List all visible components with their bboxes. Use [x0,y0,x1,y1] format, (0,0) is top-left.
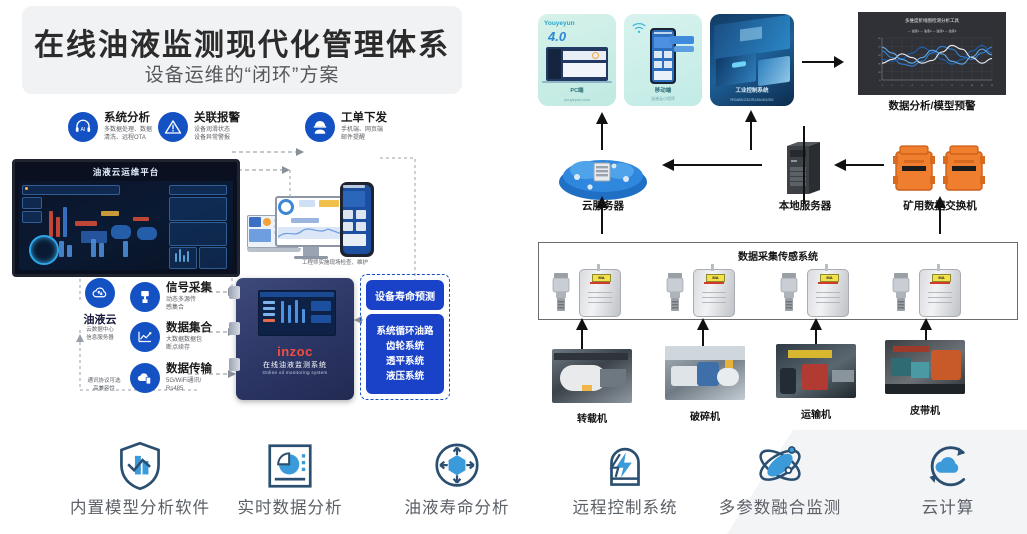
chart-plot: 90725436180123456789101112 [872,36,994,88]
equipment-label: 破碎机 [665,408,745,423]
oil-cloud-platform-screen[interactable]: 油液云运维平台 [12,159,240,277]
bottom-feature-realtime-analysis[interactable]: 实时数据分析 [215,438,365,518]
chart-legend: — 油液1 — 油液2 — 油液3 — 油液4 [858,29,1006,33]
device-name-cn: 在线油液监测系统 [236,360,354,370]
svg-text:7: 7 [941,85,943,87]
bottom-feature-label: 云计算 [873,494,1023,518]
equipment-photo-zaizaiji[interactable] [552,349,632,403]
svg-text:3: 3 [901,85,903,87]
feature-subtitle: 动态多源传 感集合 [166,297,212,312]
svg-text:18: 18 [878,72,881,74]
bottom-feature-cloud-computing[interactable]: 云计算 [873,438,1023,518]
svg-text:11: 11 [981,85,984,87]
bottom-feature-strip: 内置模型分析软件 实时数据分析 油液寿命分析 远程控制系统 多参数融合监测 [0,430,1027,534]
client-card-pc[interactable]: Youyeyun 4.0 PC端 youyeyun.com [538,14,616,106]
device-hinge [229,286,240,299]
svg-text:0: 0 [879,80,881,82]
wifi-icon [632,22,646,34]
sensor-transmitter: MA [919,269,961,317]
feature-data-aggregation[interactable]: 数据集合 大数据数据包 断点续存 [130,322,212,352]
chart-title: 多维度折线图检测分析工具 [858,18,1006,24]
equipment-photo-pidaiji[interactable] [885,340,965,394]
monitor-stand [303,247,319,256]
client-card-caption: 移动端 [624,86,702,94]
bottom-feature-remote-control[interactable]: 远程控制系统 [550,438,700,518]
client-card-sub: 油液云小程序 [624,96,702,102]
life-prediction-box[interactable]: 设备寿命预测 系统循环油路 齿轮系统 透平系统 液压系统 [360,274,450,400]
feature-title: 信号采集 [166,282,212,295]
product-version: 4.0 [548,29,566,44]
svg-text:54: 54 [878,55,881,57]
svg-text:12: 12 [991,85,994,87]
sensor-transmitter: MA [807,269,849,317]
svg-text:4: 4 [911,85,913,87]
device-brand: inzoc [236,344,354,359]
bottom-feature-label: 内置模型分析软件 [65,494,215,518]
feature-data-transmission[interactable]: 数据传输 5G/WiFi通讯/ Rs485 [130,363,212,393]
system-list-item: 透平系统 [386,354,424,369]
equipment-photo-posuiji[interactable] [665,346,745,400]
life-prediction-header: 设备寿命预测 [366,280,444,310]
page-title: 在线油液监测现代化管理体系 [22,20,462,64]
svg-text:10: 10 [971,85,974,87]
phone-mockup [340,182,374,257]
infographic-root: 在线油液监测现代化管理体系 设备运维的“闭环”方案 AI 系统分析 多数据处理、… [0,0,1027,534]
analysis-chart-panel[interactable]: 多维度折线图检测分析工具 — 油液1 — 油液2 — 油液3 — 油液4 907… [858,12,1006,95]
equipment-label: 皮带机 [885,402,965,417]
equipment-label: 转载机 [552,410,632,425]
feature-subtitle: 大数据数据包 断点续存 [166,337,212,352]
svg-text:5: 5 [921,85,923,87]
trend-chart-icon [130,322,160,352]
oil-cloud-node[interactable]: 油液云 云数据中心 信息服务器 [62,278,138,342]
arrow-to-chart [800,52,850,72]
shield-analytics-icon [65,438,215,494]
system-list-item: 齿轮系统 [386,339,424,354]
ma-tag: MA [932,274,951,282]
atom-orbit-icon [705,438,855,494]
svg-text:8: 8 [951,85,953,87]
client-card-mobile[interactable]: 移动端 油液云小程序 [624,14,702,106]
svg-text:2: 2 [891,85,893,87]
sensor-system-title: 数据采集传感系统 [539,248,1017,263]
client-card-sub: RS485/232/RJ45/4G/5G [710,97,794,102]
sensor-unit: MA [887,263,973,317]
data-upload-icon [130,363,160,393]
device-name-en: Online oil monitoring system [236,370,354,375]
page-subtitle: 设备运维的“闭环”方案 [22,60,462,87]
sensor-transmitter: MA [693,269,735,317]
client-card-caption: 工业控制系统 [710,86,794,94]
bottom-feature-multiparam[interactable]: 多参数融合监测 [705,438,855,518]
client-card-sub: youyeyun.com [538,97,616,102]
bottom-feature-oil-life[interactable]: 油液寿命分析 [382,438,532,518]
ma-tag: MA [820,274,839,282]
product-badge: Youyeyun [544,20,575,27]
cloud-node-title: 油液云 [62,311,138,327]
equipment-photo-yunshuji[interactable] [776,344,856,398]
sensor-unit: MA [661,263,747,317]
cloud-sync-icon [85,278,115,308]
bottom-feature-builtin-model[interactable]: 内置模型分析软件 [65,438,215,518]
svg-text:1: 1 [881,85,883,87]
feature-title: 数据传输 [166,363,212,376]
bottom-feature-label: 远程控制系统 [550,494,700,518]
cloud-node-subtitle: 云数据中心 信息服务器 [62,327,138,342]
engineer-note: 工程师实施现场检查、维护 [302,258,368,266]
svg-text:9: 9 [961,85,963,87]
svg-text:36: 36 [878,63,881,65]
phone-screen [343,185,371,254]
sensor-transmitter: MA [579,269,621,317]
equipment-label: 运输机 [776,406,856,421]
inzoc-monitoring-device[interactable]: inzoc 在线油液监测系统 Online oil monitoring sys… [236,278,354,400]
device-hinge [229,322,240,335]
system-list-item: 系统循环油路 [376,324,433,339]
pie-chart-icon [215,438,365,494]
platform-screen-body [19,181,233,270]
svg-text:90: 90 [878,38,881,40]
cube-expand-icon [382,438,532,494]
cloud-compute-icon [873,438,1023,494]
feature-signal-acquisition[interactable]: 信号采集 动态多源传 感集合 [130,282,212,312]
sensor-unit: MA [547,263,633,317]
svg-text:6: 6 [931,85,933,87]
client-card-caption: PC端 [538,86,616,94]
desktop-monitor-mockup [275,196,347,258]
bottom-feature-label: 油液寿命分析 [382,494,532,518]
data-acquisition-sensor-system[interactable]: 数据采集传感系统 MA MA MA [538,242,1018,320]
sensor-unit: MA [775,263,861,317]
device-screen [258,290,336,336]
bottom-feature-label: 多参数融合监测 [705,494,855,518]
laptop-icon [546,47,608,81]
client-card-industrial[interactable]: 工业控制系统 RS485/232/RJ45/4G/5G [710,14,794,106]
ma-tag: MA [706,274,725,282]
bottom-feature-label: 实时数据分析 [215,494,365,518]
remote-power-icon [550,438,700,494]
feature-title: 数据集合 [166,322,212,335]
sensor-probe-icon [130,282,160,312]
feature-subtitle: 5G/WiFi通讯/ Rs485 [166,378,212,393]
svg-text:72: 72 [878,47,881,49]
platform-screen-title: 油液云运维平台 [15,166,237,178]
ma-tag: MA [592,274,611,282]
system-list: 系统循环油路 齿轮系统 透平系统 液压系统 [366,314,444,394]
system-list-item: 液压系统 [386,369,424,384]
